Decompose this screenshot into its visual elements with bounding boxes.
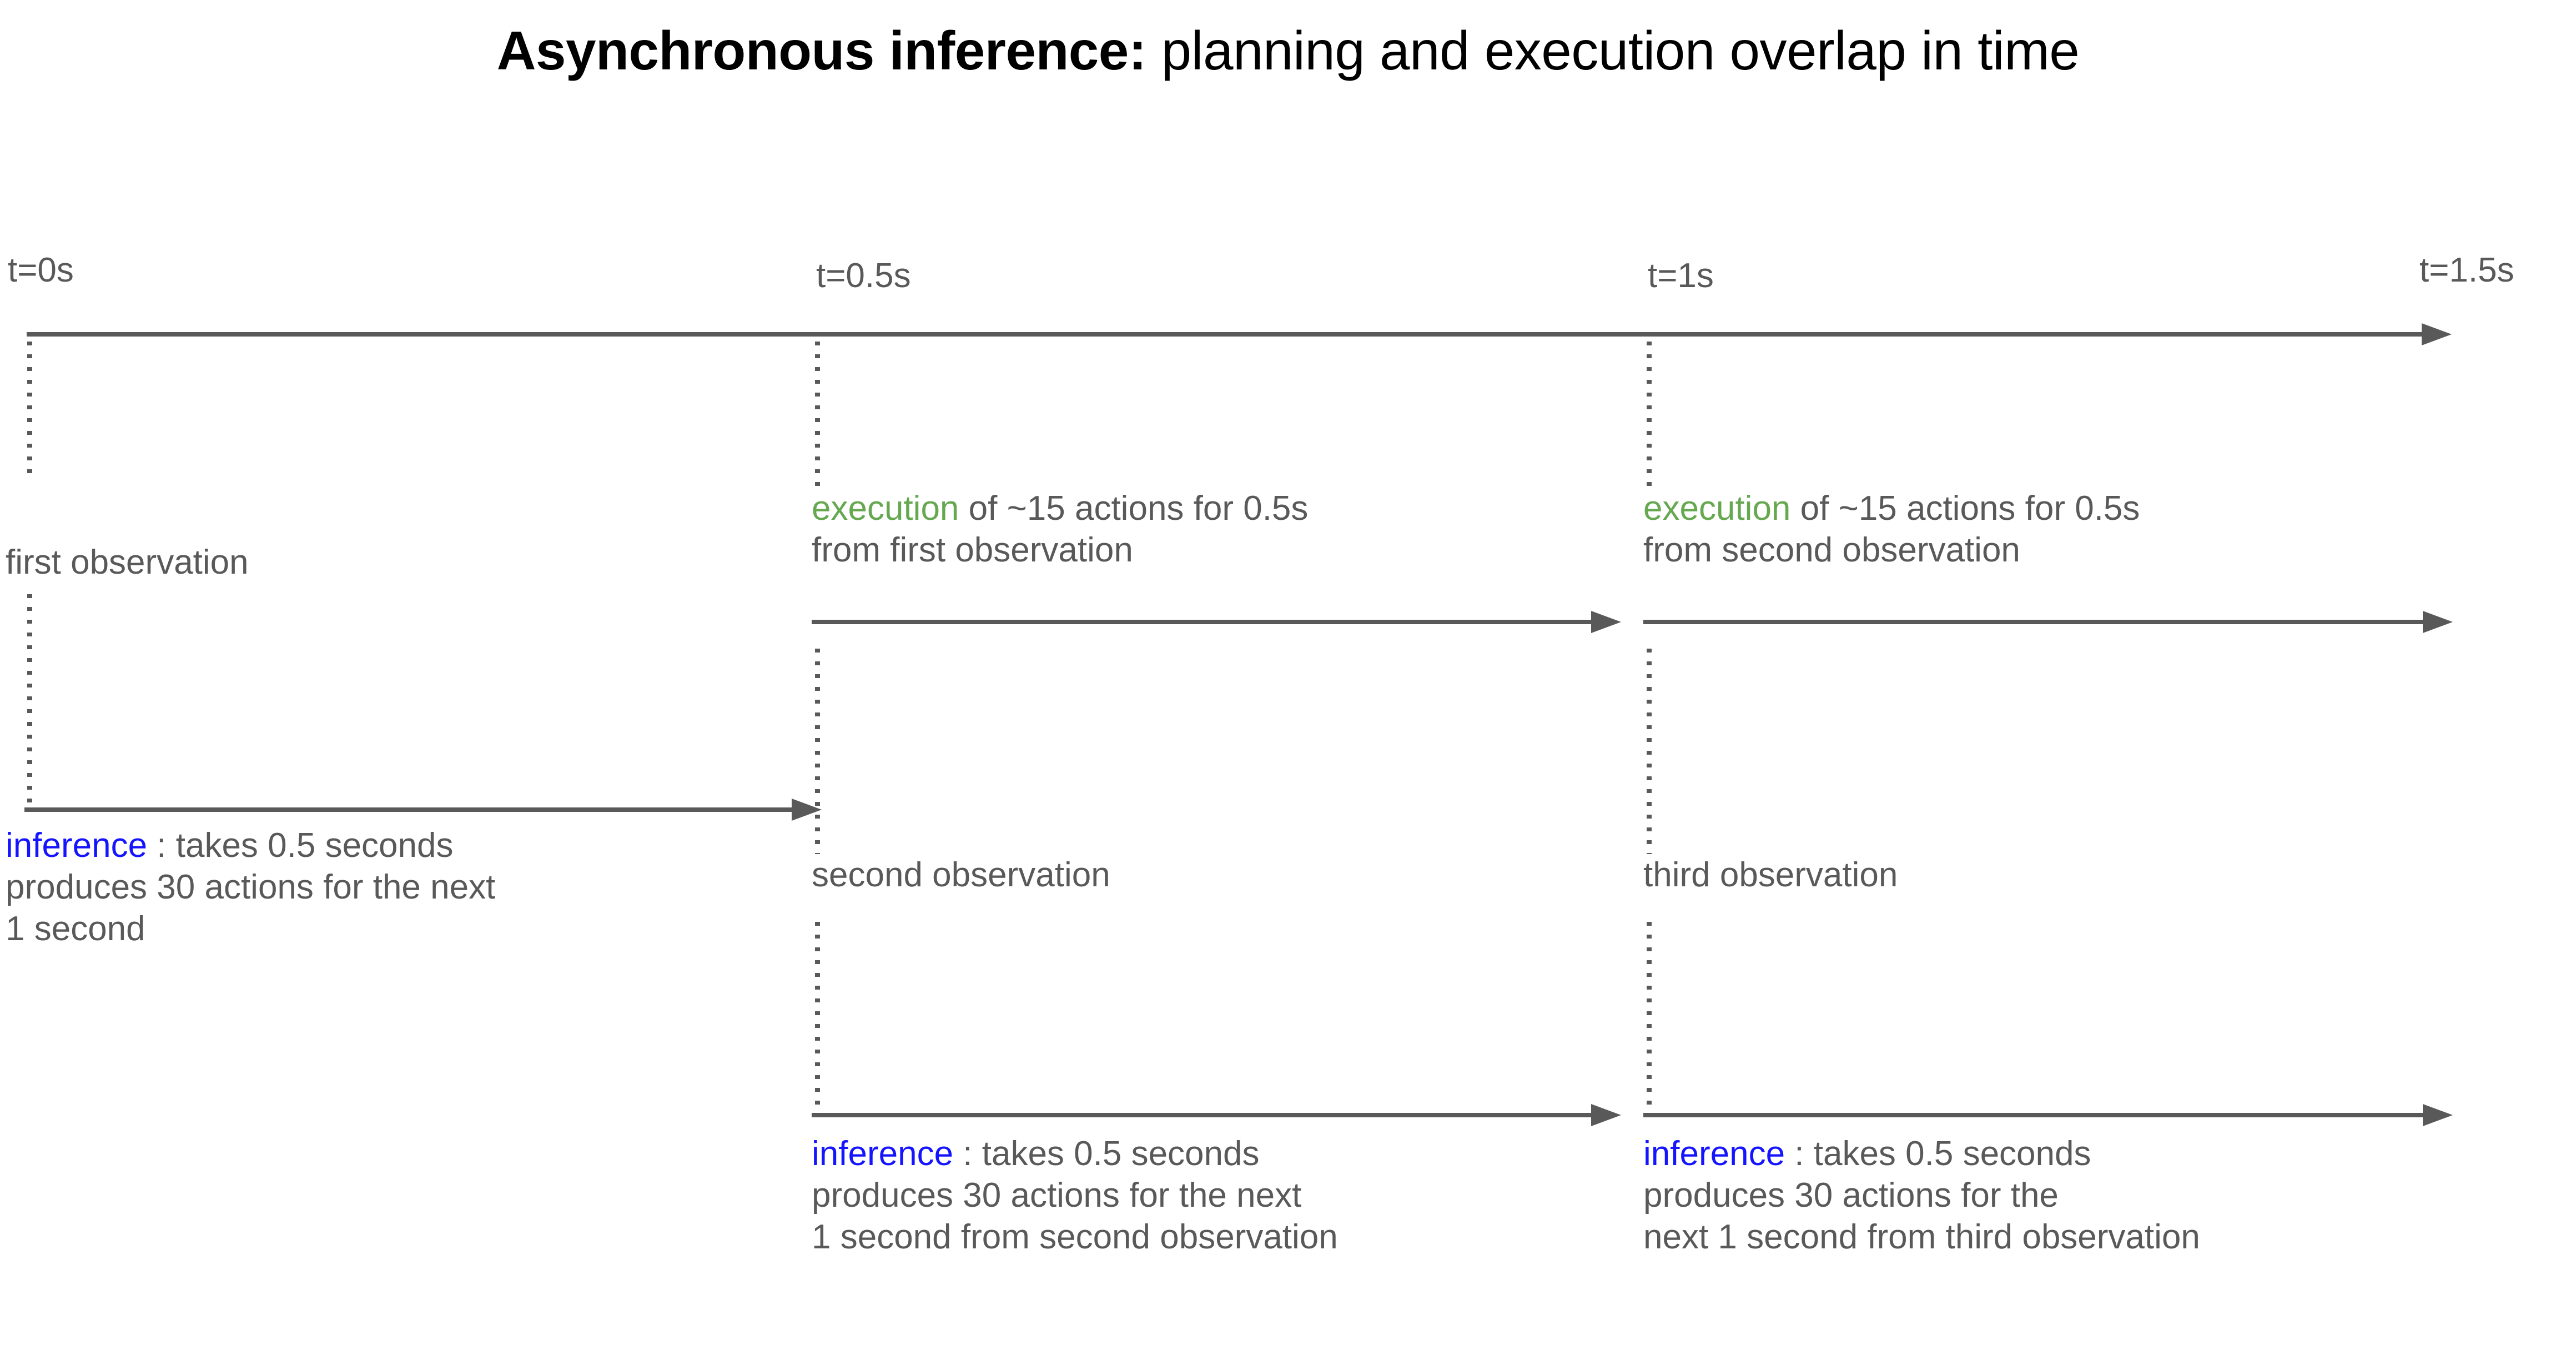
inference-first-line-2: produces 30 actions for the next — [6, 866, 495, 908]
inference-second-line-1-rest: : takes 0.5 seconds — [953, 1135, 1259, 1173]
inference-keyword: inference — [6, 826, 147, 865]
inference-first-line-1-rest: : takes 0.5 seconds — [147, 826, 453, 865]
execution-arrow-second-arrowhead — [2423, 611, 2453, 633]
execution-keyword: execution — [812, 489, 959, 528]
inference-arrow-second — [812, 1104, 1621, 1126]
observation-label-third: third observation — [1643, 854, 1898, 896]
inference-arrow-third-arrowhead — [2423, 1104, 2453, 1126]
inference-arrow-third-shaft — [1643, 1113, 2424, 1117]
page-title-rest: planning and execution overlap in time — [1146, 20, 2079, 81]
tick-label-t1: t=1s — [1648, 257, 1714, 295]
inference-second-line-3: 1 second from second observation — [812, 1216, 1338, 1258]
inference-arrow-first-arrowhead — [792, 799, 822, 821]
observation-label-first-text: first observation — [6, 541, 249, 583]
execution-arrow-first-arrowhead — [1591, 611, 1621, 633]
execution-keyword: execution — [1643, 489, 1790, 528]
inference-first-line-1: inference : takes 0.5 seconds — [6, 825, 495, 866]
execution-first-line-1: execution of ~15 actions for 0.5s — [812, 488, 1308, 529]
diagram-canvas: Asynchronous inference: planning and exe… — [0, 0, 2576, 1355]
dotted-line-t1-upper — [1647, 342, 1652, 490]
inference-arrow-first — [24, 799, 822, 821]
dotted-line-t05-upper — [815, 342, 820, 490]
main-time-axis-arrow — [27, 323, 2452, 345]
dotted-line-t05-middle — [815, 649, 820, 854]
execution-second-line-1: execution of ~15 actions for 0.5s — [1643, 488, 2140, 529]
inference-arrow-third — [1643, 1104, 2453, 1126]
inference-third-line-3: next 1 second from third observation — [1643, 1216, 2200, 1258]
execution-first-line-2: from first observation — [812, 529, 1308, 571]
observation-label-third-text: third observation — [1643, 854, 1898, 896]
page-title-bold: Asynchronous inference: — [497, 20, 1146, 81]
dotted-line-t05-lower — [815, 922, 820, 1113]
dotted-line-t1-middle — [1647, 649, 1652, 854]
inference-keyword: inference — [1643, 1135, 1785, 1173]
inference-keyword: inference — [812, 1135, 953, 1173]
dotted-line-t0-upper — [27, 342, 32, 478]
inference-second-line-1: inference : takes 0.5 seconds — [812, 1133, 1338, 1175]
observation-label-first: first observation — [6, 541, 249, 583]
dotted-line-t0-lower — [27, 594, 32, 808]
inference-arrow-second-arrowhead — [1591, 1104, 1621, 1126]
tick-label-t0: t=0s — [8, 251, 74, 290]
observation-label-second-text: second observation — [812, 854, 1110, 896]
inference-third-line-2: produces 30 actions for the — [1643, 1175, 2200, 1216]
inference-arrow-first-shaft — [24, 807, 793, 812]
inference-block-second: inference : takes 0.5 seconds produces 3… — [812, 1133, 1338, 1258]
inference-arrow-second-shaft — [812, 1113, 1592, 1117]
execution-second-line-2: from second observation — [1643, 529, 2140, 571]
execution-first-line-1-rest: of ~15 actions for 0.5s — [959, 489, 1308, 528]
page-title: Asynchronous inference: planning and exe… — [0, 20, 2576, 81]
execution-block-first-obs: execution of ~15 actions for 0.5s from f… — [812, 488, 1308, 571]
execution-arrow-second-shaft — [1643, 620, 2424, 624]
execution-block-second-obs: execution of ~15 actions for 0.5s from s… — [1643, 488, 2140, 571]
inference-third-line-1-rest: : takes 0.5 seconds — [1785, 1135, 2091, 1173]
main-time-axis-arrowhead — [2422, 323, 2452, 345]
tick-label-t05: t=0.5s — [816, 257, 911, 295]
inference-block-third: inference : takes 0.5 seconds produces 3… — [1643, 1133, 2200, 1258]
inference-block-first: inference : takes 0.5 seconds produces 3… — [6, 825, 495, 950]
observation-label-second: second observation — [812, 854, 1110, 896]
execution-arrow-second — [1643, 611, 2453, 633]
execution-arrow-first — [812, 611, 1621, 633]
tick-label-t15: t=1.5s — [2419, 251, 2514, 290]
dotted-line-t1-lower — [1647, 922, 1652, 1113]
execution-second-line-1-rest: of ~15 actions for 0.5s — [1790, 489, 2140, 528]
inference-third-line-1: inference : takes 0.5 seconds — [1643, 1133, 2200, 1175]
inference-second-line-2: produces 30 actions for the next — [812, 1175, 1338, 1216]
execution-arrow-first-shaft — [812, 620, 1592, 624]
inference-first-line-3: 1 second — [6, 908, 495, 950]
main-time-axis-shaft — [27, 332, 2423, 337]
